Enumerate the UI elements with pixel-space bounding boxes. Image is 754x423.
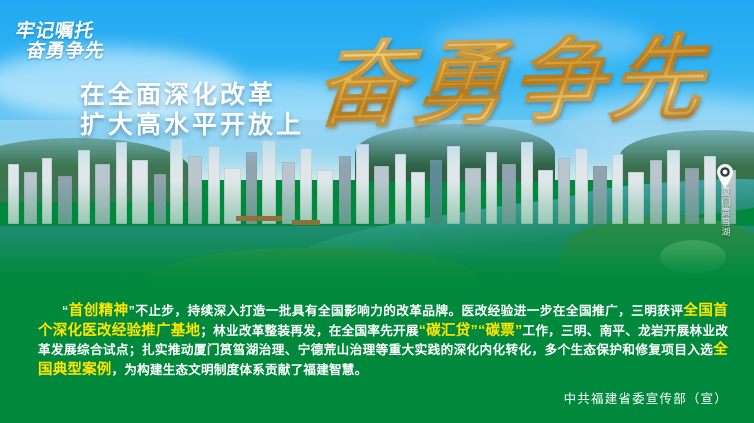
logo-line-2: 奋勇争先 xyxy=(24,42,106,62)
poster-canvas: 牢记嘱托 奋勇争先 在全面深化改革 扩大高水平开放上 奋勇争先 厦门筼筜湖 “首… xyxy=(0,0,754,423)
body-highlight-1: 首创精神 xyxy=(69,303,129,319)
band-gradient-fade xyxy=(0,252,754,292)
logo-line-1: 牢记嘱托 xyxy=(14,22,110,42)
campaign-logo: 牢记嘱托 奋勇争先 xyxy=(10,22,109,62)
body-highlight-3: “碳汇贷” xyxy=(419,323,478,339)
body-seg-5: ，为构建生态文明制度体系贡献了福建智慧。 xyxy=(112,363,368,377)
body-seg-3: ；林业改革整装再发，在全国率先开展 xyxy=(200,324,418,338)
body-highlight-4: “碳票” xyxy=(478,323,522,339)
calligraphy-title: 奋勇争先 xyxy=(312,30,713,134)
green-text-band: “首创精神”不止步，持续深入打造一批具有全国影响力的改革品牌。医改经验进一步在全… xyxy=(0,286,754,423)
headline: 在全面深化改革 扩大高水平开放上 xyxy=(80,80,304,140)
photo-location-marker: 厦门筼筜湖 xyxy=(712,164,738,242)
body-seg-2: ”不止步，持续深入打造一批具有全国影响力的改革品牌。医改经验进一步在全国推广，三… xyxy=(129,304,684,318)
body-paragraph: “首创精神”不止步，持续深入打造一批具有全国影响力的改革品牌。医改经验进一步在全… xyxy=(38,302,728,380)
headline-line-2: 扩大高水平开放上 xyxy=(80,110,304,140)
publisher-credit: 中共福建省委宣传部（宣） xyxy=(564,388,728,407)
location-pin-icon xyxy=(715,164,735,184)
location-label: 厦门筼筜湖 xyxy=(720,187,731,237)
headline-line-1: 在全面深化改革 xyxy=(80,80,304,110)
